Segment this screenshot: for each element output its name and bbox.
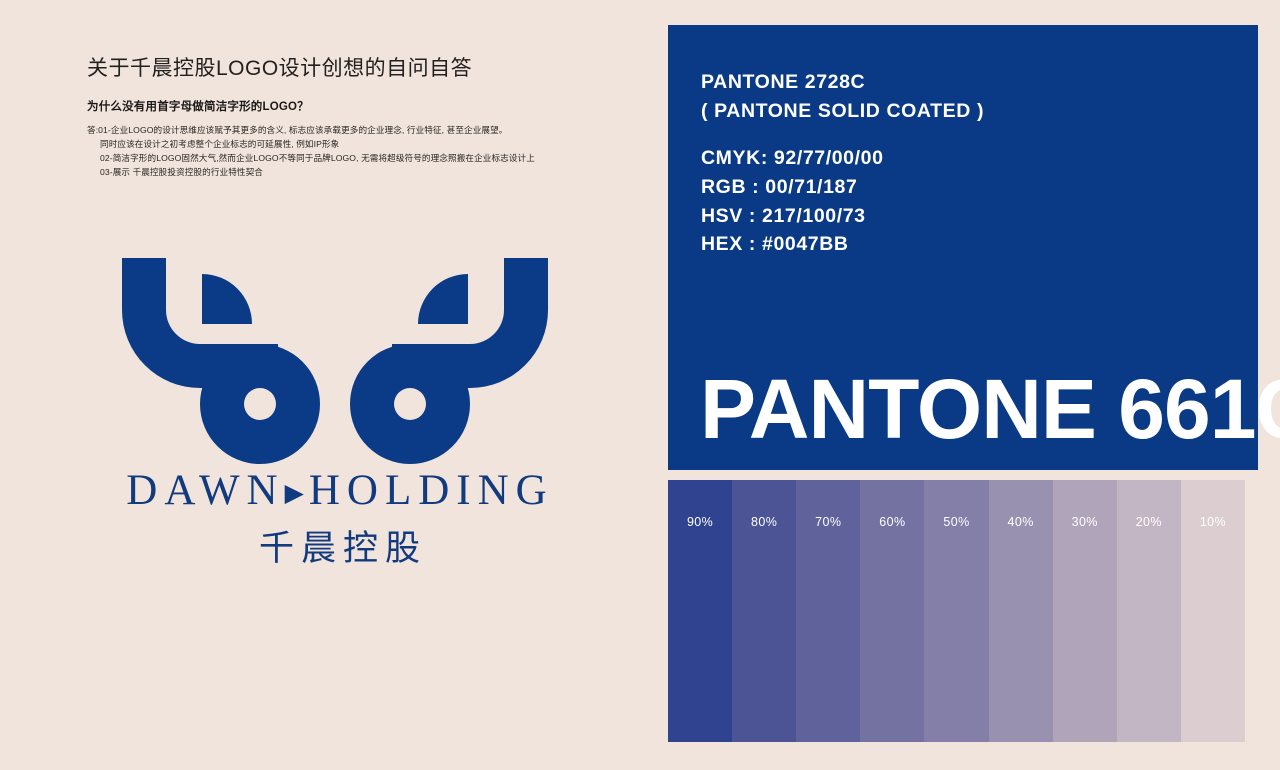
tint-swatch[interactable]: 10% <box>1181 480 1245 742</box>
wordmark-holding: HOLDING <box>309 467 554 514</box>
tint-swatch[interactable]: 30% <box>1053 480 1117 742</box>
pantone-display-title: PANTONE 661C <box>700 367 1280 451</box>
dawn-holding-logo-icon <box>120 252 550 464</box>
pantone-library: ( PANTONE SOLID COATED ) <box>701 97 984 126</box>
color-spec-list: PANTONE 2728C ( PANTONE SOLID COATED ) C… <box>701 68 984 259</box>
tint-swatch-label: 50% <box>924 515 988 529</box>
rgb-value: RGB : 00/71/187 <box>701 173 984 202</box>
tint-scale-strip: 90%80%70%60%50%40%30%20%10% <box>668 480 1245 742</box>
answer-line: 02-简洁字形的LOGO固然大气,然而企业LOGO不等同于品牌LOGO, 无需将… <box>87 152 607 166</box>
wordmark-dawn: DAWN <box>126 467 284 514</box>
logo-wordmark: DAWN▶HOLDING 千晨控股 <box>0 468 668 571</box>
tint-swatch-label: 60% <box>860 515 924 529</box>
pantone-name: PANTONE 2728C <box>701 68 984 97</box>
tint-swatch-label: 40% <box>989 515 1053 529</box>
primary-color-panel: PANTONE 2728C ( PANTONE SOLID COATED ) C… <box>668 25 1258 470</box>
section-question-heading: 为什么没有用首字母做简洁字形的LOGO？ <box>87 98 309 114</box>
tint-swatch-label: 70% <box>796 515 860 529</box>
tint-swatch-label: 20% <box>1117 515 1181 529</box>
answer-line: 答:01-企业LOGO的设计思维应该赋予其更多的含义, 标志应该承载更多的企业理… <box>87 124 607 138</box>
tint-swatch[interactable]: 60% <box>860 480 924 742</box>
tint-swatch-label: 80% <box>732 515 796 529</box>
tint-swatch[interactable]: 50% <box>924 480 988 742</box>
wordmark-chinese: 千晨控股 <box>12 520 668 571</box>
hex-value: HEX : #0047BB <box>701 230 984 259</box>
answer-text-block: 答:01-企业LOGO的设计思维应该赋予其更多的含义, 标志应该承载更多的企业理… <box>87 124 607 180</box>
spec-spacer <box>701 125 984 144</box>
brand-guideline-page: 关于千晨控股LOGO设计创想的自问自答 为什么没有用首字母做简洁字形的LOGO？… <box>0 0 1280 770</box>
logo-mark <box>120 252 550 464</box>
tint-swatch[interactable]: 70% <box>796 480 860 742</box>
page-title: 关于千晨控股LOGO设计创想的自问自答 <box>87 52 472 82</box>
tint-swatch[interactable]: 90% <box>668 480 732 742</box>
tint-swatch-label: 10% <box>1181 515 1245 529</box>
tint-swatch-label: 30% <box>1053 515 1117 529</box>
tint-swatch[interactable]: 80% <box>732 480 796 742</box>
left-content-column: 关于千晨控股LOGO设计创想的自问自答 为什么没有用首字母做简洁字形的LOGO？… <box>0 0 668 770</box>
answer-line: 03-展示 千晨控股投资控股的行业特性契合 <box>87 166 607 180</box>
answer-line: 同时应该在设计之初考虑整个企业标志的可延展性, 例如IP形象 <box>87 138 607 152</box>
tint-swatch[interactable]: 20% <box>1117 480 1181 742</box>
wordmark-arrow-icon: ▶ <box>285 480 309 507</box>
wordmark-english: DAWN▶HOLDING <box>12 468 668 514</box>
cmyk-value: CMYK: 92/77/00/00 <box>701 144 984 173</box>
tint-swatch-label: 90% <box>668 515 732 529</box>
tint-swatch[interactable]: 40% <box>989 480 1053 742</box>
hsv-value: HSV : 217/100/73 <box>701 202 984 231</box>
